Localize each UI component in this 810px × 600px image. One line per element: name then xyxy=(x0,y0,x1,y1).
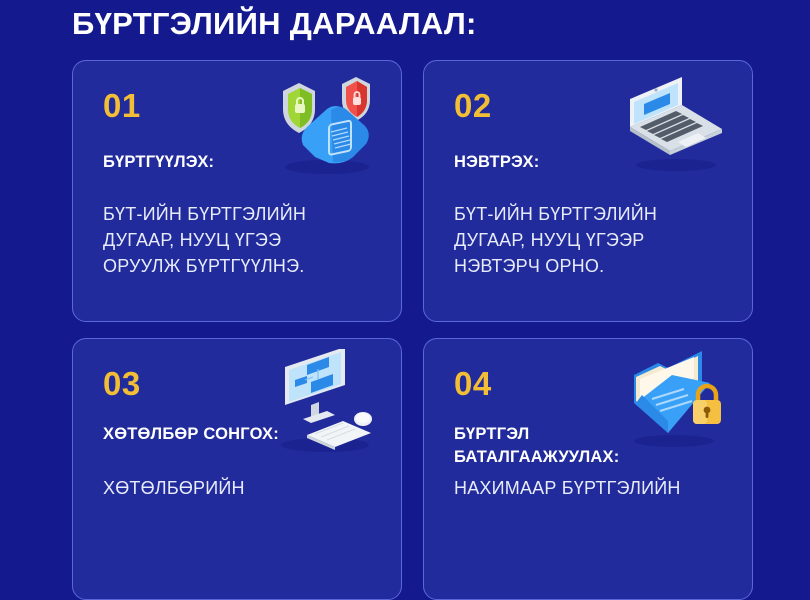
step-card-01[interactable]: 01 БҮРТГҮҮЛЭХ: БҮТ-ИЙН БҮРТГЭЛИЙН ДУГААР… xyxy=(72,60,402,322)
step-body-line: ХӨТӨЛБӨРИЙН xyxy=(103,475,373,501)
step-body-line: ДУГААР, НУУЦ ҮГЭЭ xyxy=(103,227,373,253)
step-body-line: НАХИМААР БҮРТГЭЛИЙН xyxy=(454,475,724,501)
step-body-line: БҮТ-ИЙН БҮРТГЭЛИЙН xyxy=(454,201,724,227)
desktop-computer-icon xyxy=(267,349,387,457)
step-body-line: ДУГААР, НУУЦ ҮГЭЭР xyxy=(454,227,724,253)
step-card-03[interactable]: 03 ХӨТӨЛБӨР СОНГОХ: ХӨТӨЛБӨРИЙН xyxy=(72,338,402,600)
cloud-shields-icon xyxy=(265,75,385,179)
step-body: БҮТ-ИЙН БҮРТГЭЛИЙН ДУГААР, НУУЦ ҮГЭЭ ОРУ… xyxy=(103,201,373,279)
laptop-icon xyxy=(616,75,736,179)
slide-root: БҮРТГЭЛИЙН ДАРААЛАЛ: 01 БҮРТГҮҮЛЭХ: БҮТ-… xyxy=(0,0,810,500)
step-card-04[interactable]: 04 БҮРТГЭЛ БАТАЛГААЖУУЛАХ: НАХИМААР БҮРТ… xyxy=(423,338,753,600)
step-body: НАХИМААР БҮРТГЭЛИЙН xyxy=(454,475,724,501)
folder-lock-icon xyxy=(618,349,738,457)
step-body: БҮТ-ИЙН БҮРТГЭЛИЙН ДУГААР, НУУЦ ҮГЭЭР НЭ… xyxy=(454,201,724,279)
step-body: ХӨТӨЛБӨРИЙН xyxy=(103,475,373,501)
step-card-02[interactable]: 02 НЭВТРЭХ: БҮТ-ИЙН БҮРТГЭЛИЙН ДУГААР, Н… xyxy=(423,60,753,322)
step-body-line: БҮТ-ИЙН БҮРТГЭЛИЙН xyxy=(103,201,373,227)
step-number: 02 xyxy=(454,89,492,122)
step-number: 04 xyxy=(454,367,492,400)
step-number: 03 xyxy=(103,367,141,400)
step-number: 01 xyxy=(103,89,141,122)
step-body-line: ОРУУЛЖ БҮРТГҮҮЛНЭ. xyxy=(103,253,373,279)
steps-grid: 01 БҮРТГҮҮЛЭХ: БҮТ-ИЙН БҮРТГЭЛИЙН ДУГААР… xyxy=(72,60,753,600)
step-body-line: НЭВТЭРЧ ОРНО. xyxy=(454,253,724,279)
page-title: БҮРТГЭЛИЙН ДАРААЛАЛ: xyxy=(72,6,477,42)
